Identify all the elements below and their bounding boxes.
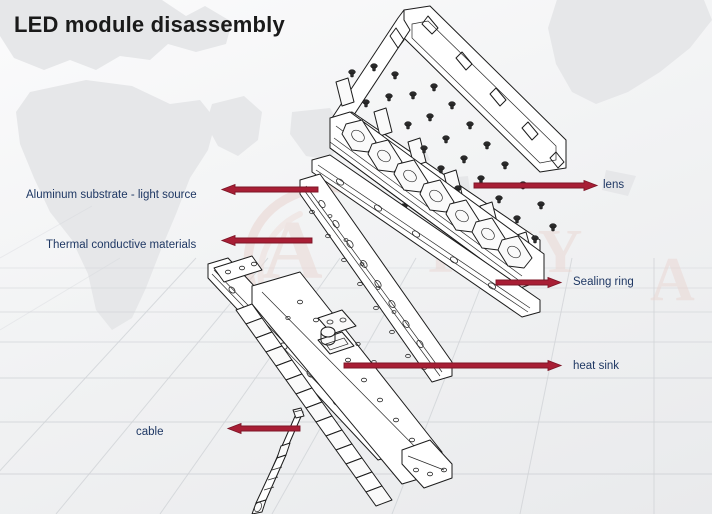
callout-arrow-lens [474, 180, 598, 191]
callout-label-aluminum-substrate: Aluminum substrate - light source [26, 190, 197, 202]
svg-text:TAIY: TAIY [420, 218, 586, 286]
part-screws [349, 64, 557, 253]
perspective-grid [0, 0, 712, 514]
world-map-watermark [0, 0, 712, 514]
callout-label-lens: lens [603, 180, 624, 192]
callout-label-cable: cable [136, 427, 164, 439]
callout-arrow-heat-sink [344, 360, 562, 371]
part-heat-sink [214, 256, 452, 506]
callout-arrow-thermal-materials [222, 235, 312, 246]
callout-label-thermal-materials: Thermal conductive materials [46, 240, 196, 252]
callout-label-sealing-ring: Sealing ring [573, 277, 634, 289]
part-lens-cover [332, 6, 566, 262]
brand-watermark: A TAIY A [0, 0, 712, 514]
page-title: LED module disassembly [14, 12, 285, 38]
callout-arrow-cable [228, 423, 300, 434]
exploded-assembly-drawing: .ln { fill: none; stroke: #1c1c1c; strok… [0, 0, 712, 514]
part-aluminum-substrate [300, 174, 452, 382]
part-lens-array [330, 112, 544, 288]
callout-arrow-aluminum-substrate [222, 184, 318, 195]
callout-arrow-sealing-ring [496, 277, 562, 288]
svg-text:A: A [262, 204, 325, 297]
svg-text:A: A [650, 246, 695, 314]
callout-label-heat-sink: heat sink [573, 361, 619, 373]
diagram-canvas: A TAIY A .ln { fill: none; stroke: #1c1c… [0, 0, 712, 514]
